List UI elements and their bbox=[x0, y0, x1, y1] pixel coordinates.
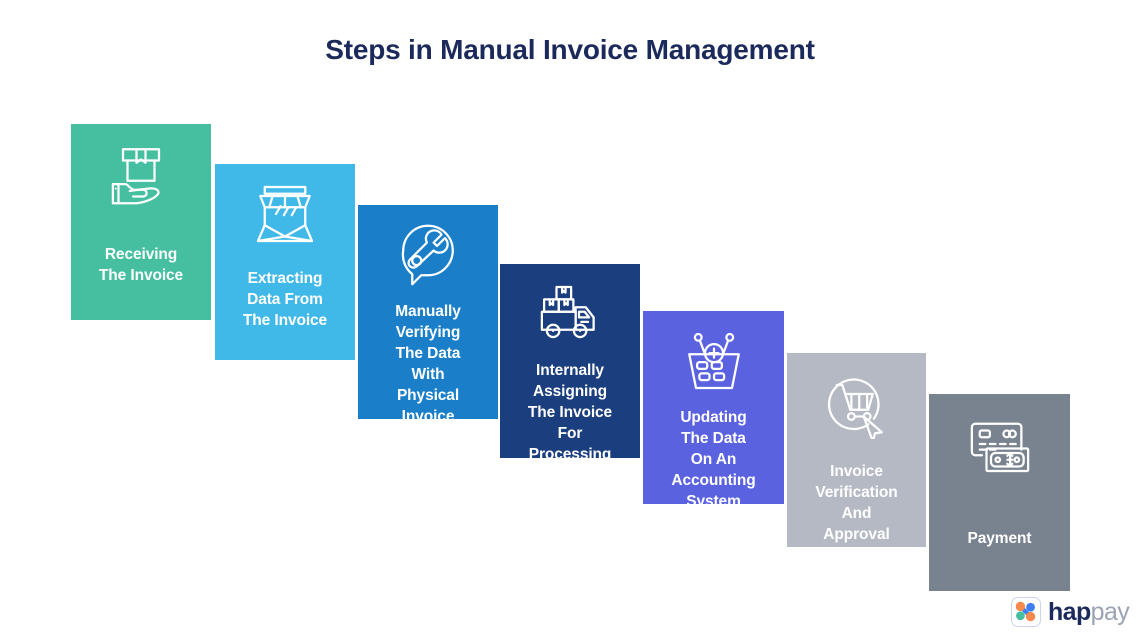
step-block-2[interactable]: Extracting Data From The Invoice bbox=[215, 164, 355, 360]
package-in-hand-icon bbox=[105, 138, 177, 210]
step-label-4: Internally Assigning The Invoice For Pro… bbox=[507, 356, 633, 465]
step-label-7: Payment bbox=[937, 486, 1063, 549]
wrench-tools-icon bbox=[392, 219, 464, 291]
delivery-truck-icon bbox=[534, 278, 606, 350]
infographic-canvas: Steps in Manual Invoice Management Recei… bbox=[0, 0, 1140, 641]
step-block-7[interactable]: Payment bbox=[929, 394, 1070, 591]
happay-wordmark: happay bbox=[1048, 599, 1129, 625]
brand-name-bold: hap bbox=[1048, 598, 1091, 626]
step-block-6[interactable]: Invoice Verification And Approval bbox=[787, 353, 926, 547]
cart-cursor-icon bbox=[821, 367, 893, 439]
step-block-1[interactable]: Receiving The Invoice bbox=[71, 124, 211, 320]
step-label-6: Invoice Verification And Approval bbox=[794, 445, 920, 545]
step-label-1: Receiving The Invoice bbox=[78, 216, 204, 286]
step-block-3[interactable]: Manually Verifying The Data With Physica… bbox=[358, 205, 498, 419]
storefront-extract-icon bbox=[249, 178, 321, 250]
step-label-3: Manually Verifying The Data With Physica… bbox=[365, 297, 491, 427]
card-cash-icon bbox=[964, 408, 1036, 480]
step-label-2: Extracting Data From The Invoice bbox=[222, 256, 348, 331]
shopping-basket-plus-icon bbox=[678, 325, 750, 397]
step-label-5: Updating The Data On An Accounting Syste… bbox=[651, 403, 777, 512]
page-title: Steps in Manual Invoice Management bbox=[0, 30, 1140, 70]
brand-name-light: pay bbox=[1091, 598, 1130, 626]
happay-dots-icon bbox=[1011, 597, 1041, 627]
step-block-4[interactable]: Internally Assigning The Invoice For Pro… bbox=[500, 264, 640, 458]
happay-logo[interactable]: happay bbox=[1011, 597, 1129, 627]
step-block-5[interactable]: Updating The Data On An Accounting Syste… bbox=[643, 311, 784, 504]
